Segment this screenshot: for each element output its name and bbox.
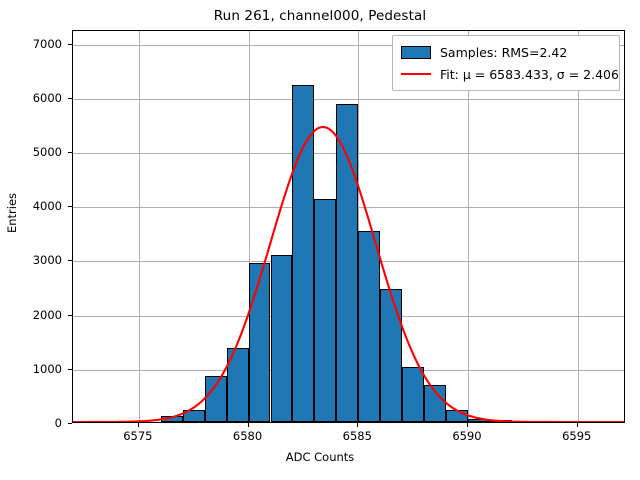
- y-tick-mark: [68, 369, 72, 370]
- y-axis-label: Entries: [5, 113, 19, 313]
- x-tick-label: 6585: [343, 429, 372, 443]
- chart-legend: Samples: RMS=2.42 Fit: μ = 6583.433, σ =…: [392, 35, 620, 91]
- x-tick-label: 6580: [233, 429, 262, 443]
- chart-canvas: Run 261, channel000, Pedestal 6575658065…: [0, 0, 640, 480]
- fit-line: [73, 127, 624, 422]
- y-tick-label: 7000: [2, 37, 62, 51]
- legend-patch-icon: [401, 46, 431, 59]
- legend-item-fit: Fit: μ = 6583.433, σ = 2.406: [401, 64, 611, 84]
- y-tick-mark: [68, 206, 72, 207]
- x-axis-label: ADC Counts: [0, 450, 640, 464]
- y-tick-label: 1000: [2, 362, 62, 376]
- y-tick-mark: [68, 423, 72, 424]
- legend-item-samples: Samples: RMS=2.42: [401, 42, 611, 62]
- y-tick-mark: [68, 44, 72, 45]
- y-tick-mark: [68, 260, 72, 261]
- y-tick-label: 6000: [2, 91, 62, 105]
- x-tick-mark: [357, 423, 358, 427]
- y-tick-mark: [68, 152, 72, 153]
- chart-title: Run 261, channel000, Pedestal: [0, 8, 640, 24]
- x-tick-mark: [467, 423, 468, 427]
- x-tick-mark: [248, 423, 249, 427]
- x-tick-label: 6590: [452, 429, 481, 443]
- x-tick-mark: [577, 423, 578, 427]
- x-tick-mark: [138, 423, 139, 427]
- legend-label-fit: Fit: μ = 6583.433, σ = 2.406: [440, 67, 619, 82]
- y-tick-mark: [68, 98, 72, 99]
- legend-line-icon: [401, 73, 431, 75]
- y-tick-mark: [68, 315, 72, 316]
- legend-label-samples: Samples: RMS=2.42: [440, 45, 567, 60]
- x-tick-label: 6595: [562, 429, 591, 443]
- y-tick-label: 0: [2, 416, 62, 430]
- x-tick-label: 6575: [123, 429, 152, 443]
